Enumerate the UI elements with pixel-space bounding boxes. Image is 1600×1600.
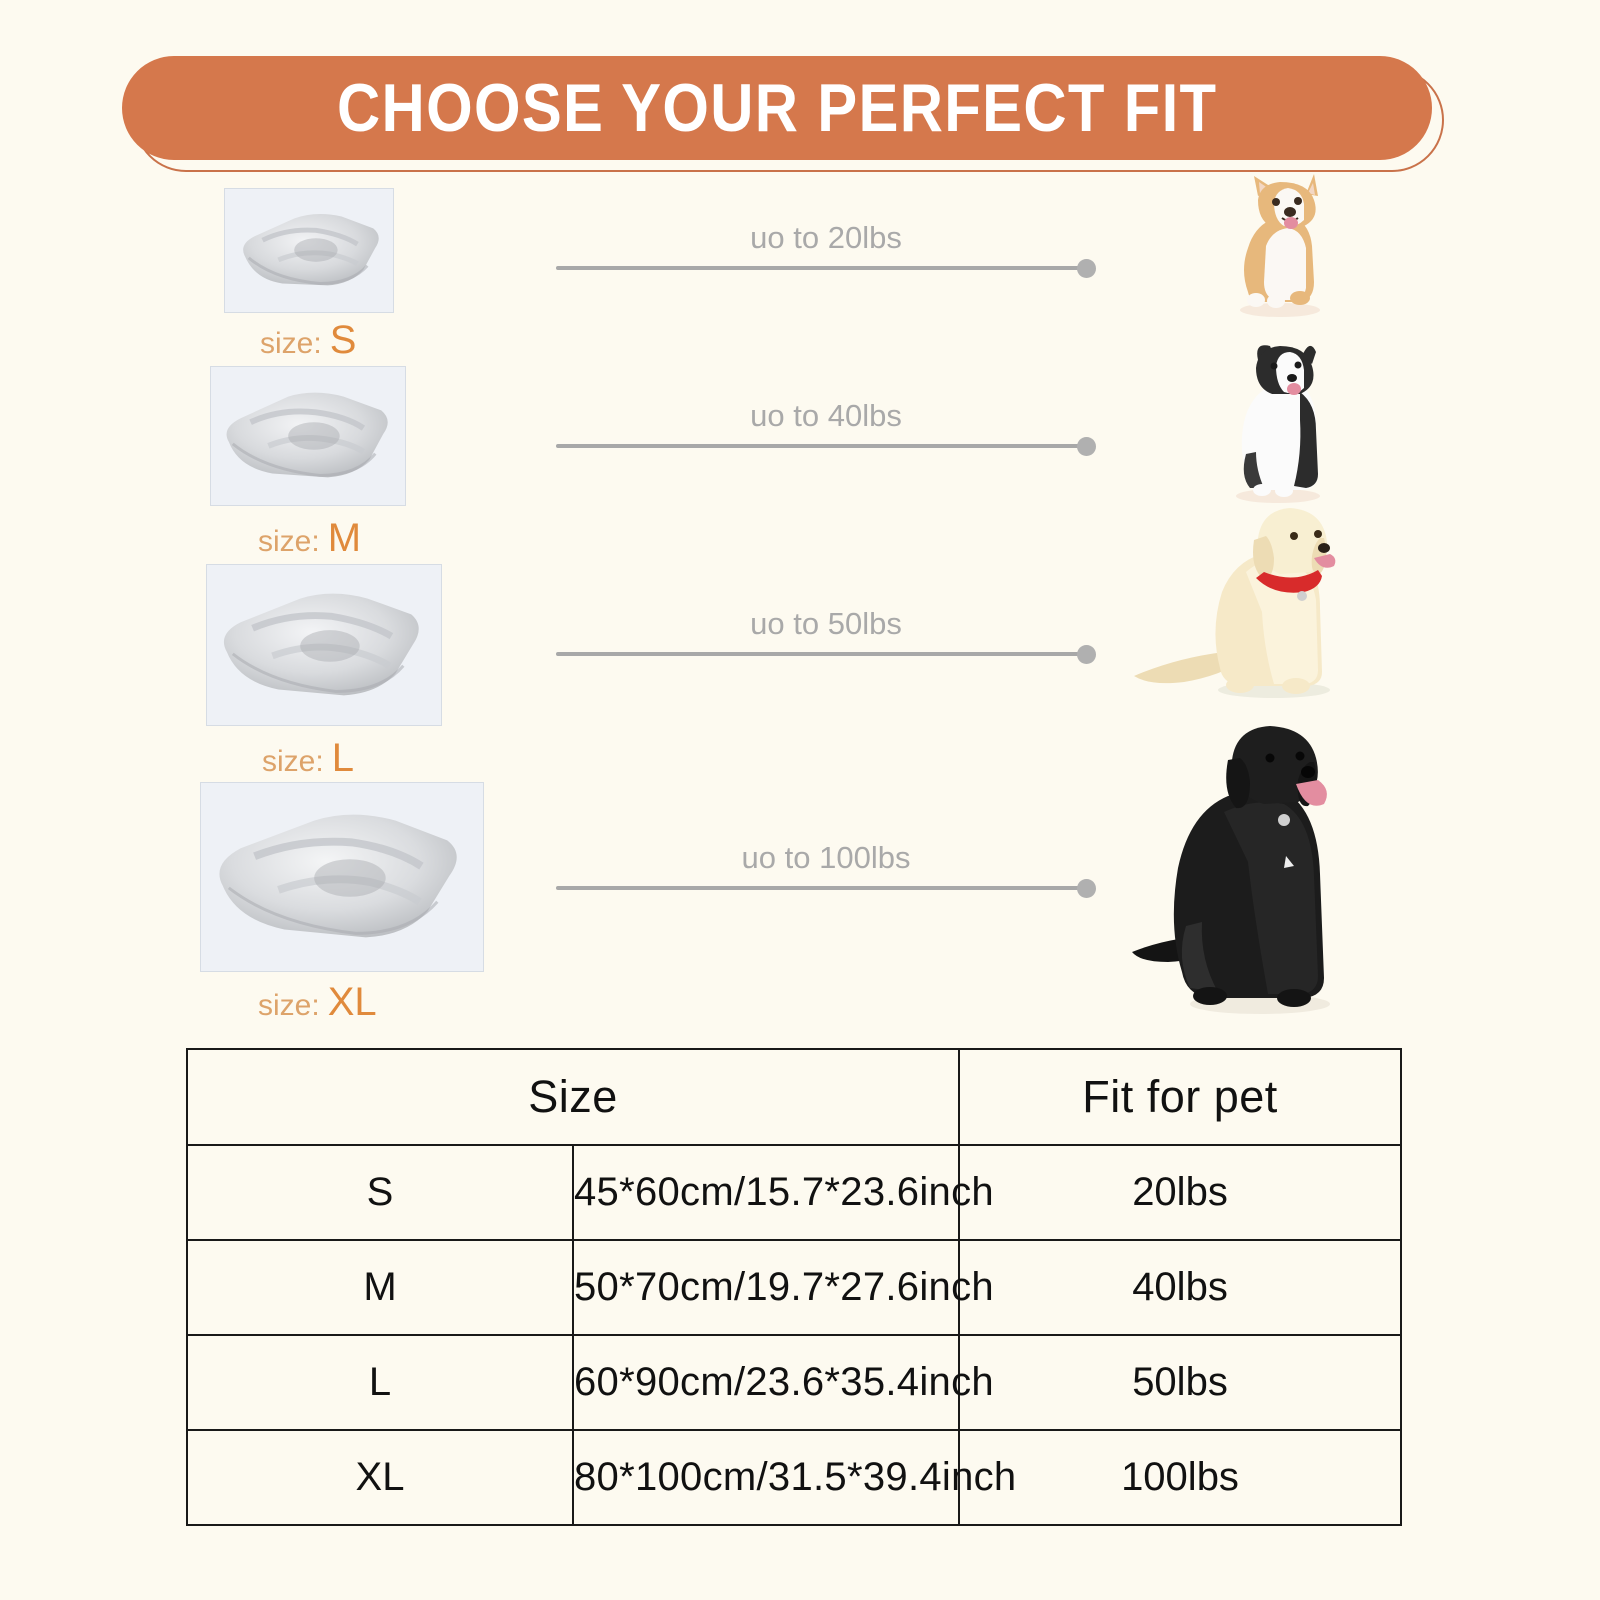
cell-fit: 50lbs [959,1335,1401,1430]
cell-dimensions: 50*70cm/19.7*27.6inch [573,1240,959,1335]
table-header-size: Size [187,1049,959,1145]
weight-label-xl: uo to 100lbs [556,842,1096,873]
size-label-m: size:M [258,518,361,558]
weight-label-m: uo to 40lbs [556,400,1096,431]
corgi-dog-icon [1218,170,1336,320]
cell-size-letter: L [187,1335,573,1430]
weight-label-s: uo to 20lbs [556,222,1096,253]
banner-fill: CHOOSE YOUR PERFECT FIT [122,56,1432,160]
cell-fit: 40lbs [959,1240,1401,1335]
pet-bed-illustration-icon [207,565,441,725]
weight-label-l: uo to 50lbs [556,608,1096,639]
cell-size-letter: M [187,1240,573,1335]
cell-dimensions: 80*100cm/31.5*39.4inch [573,1430,959,1525]
connector-dot-s [1077,259,1096,278]
connector-line-m [556,444,1088,448]
size-chart-page: CHOOSE YOUR PERFECT FIT si [0,0,1600,1600]
bed-image-s [224,188,394,313]
table-row: L 60*90cm/23.6*35.4inch 50lbs [187,1335,1401,1430]
border-collie-dog-icon [1216,334,1338,506]
header-banner: CHOOSE YOUR PERFECT FIT [122,56,1432,164]
table-row: XL 80*100cm/31.5*39.4inch 100lbs [187,1430,1401,1525]
dog-image-xl [1124,716,1350,1016]
bed-image-xl [200,782,484,972]
cell-dimensions: 60*90cm/23.6*35.4inch [573,1335,959,1430]
size-label-xl: size:XL [258,982,377,1022]
size-label-l: size:L [262,738,354,778]
connector-l: uo to 50lbs [556,608,1096,668]
connector-m: uo to 40lbs [556,400,1096,460]
cell-fit: 100lbs [959,1430,1401,1525]
dog-image-m [1216,334,1338,506]
table-row: S 45*60cm/15.7*23.6inch 20lbs [187,1145,1401,1240]
dog-image-s [1218,170,1336,320]
table-row: M 50*70cm/19.7*27.6inch 40lbs [187,1240,1401,1335]
dog-image-l [1124,500,1342,700]
cell-fit: 20lbs [959,1145,1401,1240]
connector-line-l [556,652,1088,656]
pet-bed-illustration-icon [225,189,393,312]
connector-s: uo to 20lbs [556,222,1096,282]
page-title: CHOOSE YOUR PERFECT FIT [337,74,1217,142]
black-labrador-dog-icon [1124,716,1350,1016]
size-label-s: size:S [260,320,356,360]
bed-image-l [206,564,442,726]
connector-dot-m [1077,437,1096,456]
size-spec-table: Size Fit for pet S 45*60cm/15.7*23.6inch… [186,1048,1402,1526]
pet-bed-illustration-icon [211,367,405,505]
connector-line-xl [556,886,1088,890]
connector-dot-xl [1077,879,1096,898]
connector-dot-l [1077,645,1096,664]
table-header-fit: Fit for pet [959,1049,1401,1145]
bed-image-m [210,366,406,506]
connector-line-s [556,266,1088,270]
pet-bed-illustration-icon [201,783,483,971]
cell-size-letter: S [187,1145,573,1240]
table-header-row: Size Fit for pet [187,1049,1401,1145]
cell-dimensions: 45*60cm/15.7*23.6inch [573,1145,959,1240]
connector-xl: uo to 100lbs [556,842,1096,902]
cell-size-letter: XL [187,1430,573,1525]
golden-retriever-dog-icon [1124,500,1342,700]
